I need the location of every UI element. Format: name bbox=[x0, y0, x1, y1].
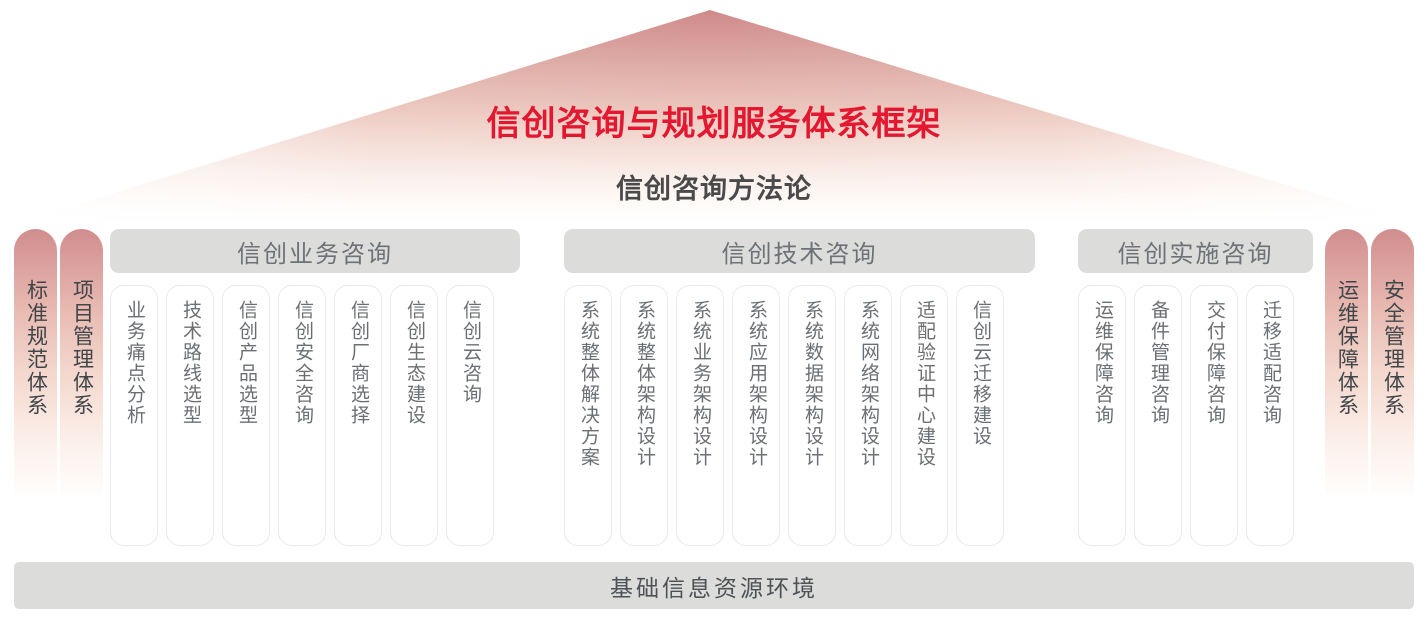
pillar-label: 安全管理体系 bbox=[1378, 279, 1408, 417]
card-technology-6[interactable]: 系统网络架构设计 bbox=[844, 285, 892, 546]
card-label: 适配验证中心建设 bbox=[906, 300, 942, 468]
group-header-label: 信创业务咨询 bbox=[237, 234, 393, 269]
card-technology-5[interactable]: 系统数据架构设计 bbox=[788, 285, 836, 546]
card-business-2[interactable]: 技术路线选型 bbox=[166, 285, 214, 546]
card-label: 备件管理咨询 bbox=[1140, 300, 1176, 426]
card-label: 系统应用架构设计 bbox=[738, 300, 774, 468]
card-label: 系统整体架构设计 bbox=[626, 300, 662, 468]
pillar-project-management-system[interactable]: 项目管理体系 bbox=[60, 229, 103, 501]
card-label: 技术路线选型 bbox=[172, 300, 208, 426]
card-label: 业务痛点分析 bbox=[116, 300, 152, 426]
card-business-3[interactable]: 信创产品选型 bbox=[222, 285, 270, 546]
card-business-6[interactable]: 信创生态建设 bbox=[390, 285, 438, 546]
card-technology-7[interactable]: 适配验证中心建设 bbox=[900, 285, 948, 546]
card-business-1[interactable]: 业务痛点分析 bbox=[110, 285, 158, 546]
card-label: 信创产品选型 bbox=[228, 300, 264, 426]
group-body-technology: 系统整体解决方案 系统整体架构设计 系统业务架构设计 系统应用架构设计 系统数据… bbox=[564, 285, 1004, 546]
base-label: 基础信息资源环境 bbox=[610, 569, 818, 603]
group-header-implementation[interactable]: 信创实施咨询 bbox=[1078, 229, 1313, 273]
group-body-business: 业务痛点分析 技术路线选型 信创产品选型 信创安全咨询 信创厂商选择 信创生态建… bbox=[110, 285, 494, 546]
card-business-5[interactable]: 信创厂商选择 bbox=[334, 285, 382, 546]
card-label: 运维保障咨询 bbox=[1084, 300, 1120, 426]
diagram-canvas: 信创咨询与规划服务体系框架 信创咨询方法论 标准规范体系 项目管理体系 运维保障… bbox=[0, 0, 1428, 627]
pillar-label-wrap: 项目管理体系 bbox=[60, 279, 103, 489]
card-label: 系统业务架构设计 bbox=[682, 300, 718, 468]
page-title: 信创咨询与规划服务体系框架 bbox=[0, 96, 1428, 145]
card-technology-3[interactable]: 系统业务架构设计 bbox=[676, 285, 724, 546]
group-body-implementation: 运维保障咨询 备件管理咨询 交付保障咨询 迁移适配咨询 bbox=[1078, 285, 1294, 546]
group-header-label: 信创技术咨询 bbox=[722, 234, 878, 269]
page-subtitle: 信创咨询方法论 bbox=[0, 167, 1428, 206]
pillar-security-management-system[interactable]: 安全管理体系 bbox=[1371, 229, 1414, 501]
pillar-standard-spec-system[interactable]: 标准规范体系 bbox=[14, 229, 57, 501]
pillar-label-wrap: 安全管理体系 bbox=[1371, 279, 1414, 489]
pillar-label-wrap: 运维保障体系 bbox=[1325, 279, 1368, 489]
card-business-4[interactable]: 信创安全咨询 bbox=[278, 285, 326, 546]
card-implementation-2[interactable]: 备件管理咨询 bbox=[1134, 285, 1182, 546]
card-label: 信创安全咨询 bbox=[284, 300, 320, 426]
card-label: 系统整体解决方案 bbox=[570, 300, 606, 468]
group-header-business[interactable]: 信创业务咨询 bbox=[110, 229, 520, 273]
card-label: 信创厂商选择 bbox=[340, 300, 376, 426]
group-header-technology[interactable]: 信创技术咨询 bbox=[564, 229, 1035, 273]
pillar-label: 标准规范体系 bbox=[21, 279, 51, 417]
card-implementation-4[interactable]: 迁移适配咨询 bbox=[1246, 285, 1294, 546]
pillar-label: 项目管理体系 bbox=[67, 279, 97, 417]
card-implementation-3[interactable]: 交付保障咨询 bbox=[1190, 285, 1238, 546]
card-label: 系统数据架构设计 bbox=[794, 300, 830, 468]
base-foundation-bar[interactable]: 基础信息资源环境 bbox=[14, 562, 1414, 609]
card-technology-4[interactable]: 系统应用架构设计 bbox=[732, 285, 780, 546]
card-label: 信创云咨询 bbox=[452, 300, 488, 405]
pillar-ops-assurance-system[interactable]: 运维保障体系 bbox=[1325, 229, 1368, 501]
card-technology-2[interactable]: 系统整体架构设计 bbox=[620, 285, 668, 546]
pillar-label: 运维保障体系 bbox=[1332, 279, 1362, 417]
card-technology-1[interactable]: 系统整体解决方案 bbox=[564, 285, 612, 546]
card-implementation-1[interactable]: 运维保障咨询 bbox=[1078, 285, 1126, 546]
card-business-7[interactable]: 信创云咨询 bbox=[446, 285, 494, 546]
card-label: 信创云迁移建设 bbox=[962, 300, 998, 447]
card-label: 信创生态建设 bbox=[396, 300, 432, 426]
card-technology-8[interactable]: 信创云迁移建设 bbox=[956, 285, 1004, 546]
card-label: 系统网络架构设计 bbox=[850, 300, 886, 468]
pillar-label-wrap: 标准规范体系 bbox=[14, 279, 57, 489]
card-label: 迁移适配咨询 bbox=[1252, 300, 1288, 426]
card-label: 交付保障咨询 bbox=[1196, 300, 1232, 426]
group-header-label: 信创实施咨询 bbox=[1118, 234, 1274, 269]
